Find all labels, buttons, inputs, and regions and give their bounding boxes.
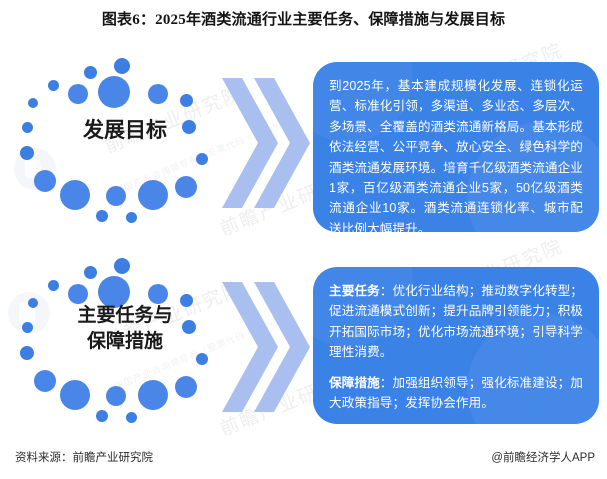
- node-label-tasks: 主要任务与 保障措施: [20, 303, 230, 354]
- double-chevron-right-icon: [222, 276, 310, 418]
- ring-dot: [106, 386, 126, 406]
- ring-dot-large: [138, 180, 168, 210]
- ring-dot: [96, 210, 108, 222]
- page-title: 图表6：2025年酒类流通行业主要任务、保障措施与发展目标: [0, 8, 607, 29]
- ring-dot: [28, 98, 38, 108]
- paragraph-lead: 保障措施: [329, 376, 380, 390]
- ring-dot: [148, 284, 168, 304]
- paragraph-lead: 主要任务: [329, 284, 380, 298]
- ring-dot: [96, 410, 108, 422]
- node-label-line: 发展目标: [20, 116, 230, 144]
- panel-paragraph: 到2025年，基本建成规模化发展、连锁化运营、标准化引领，多渠道、多业态、多层次…: [329, 76, 583, 232]
- ring-dot: [34, 170, 56, 192]
- attribution-note: @前瞻经济学人APP: [491, 449, 595, 465]
- panel-paragraph: 主要任务：优化行业结构；推动数字化转型；促进流通模式创新；提升品牌引领能力；积极…: [329, 281, 583, 363]
- ring-dot: [175, 176, 197, 198]
- ring-dot: [126, 412, 137, 423]
- paragraph-text: 到2025年，基本建成规模化发展、连锁化运营、标准化引领，多渠道、多业态、多层次…: [329, 79, 583, 232]
- ring-dot: [148, 84, 168, 104]
- ring-dot: [48, 280, 59, 291]
- ring-dot-large: [138, 380, 168, 410]
- ring-dot: [175, 376, 197, 398]
- goal-panel-body: 到2025年，基本建成规模化发展、连锁化运营、标准化引领，多渠道、多业态、多层次…: [313, 62, 599, 232]
- ring-dot: [114, 58, 130, 74]
- infographic-canvas: 图表6：2025年酒类流通行业主要任务、保障措施与发展目标 前瞻产业研究院 中国…: [0, 0, 607, 479]
- ring-dot: [180, 94, 193, 107]
- ring-dot: [84, 66, 97, 79]
- ring-dot: [84, 266, 97, 279]
- ring-dot: [196, 153, 208, 165]
- source-note: 资料来源：前瞻产业研究院: [15, 449, 153, 465]
- node-label-goal: 发展目标: [20, 116, 230, 144]
- ring-dot-large: [60, 380, 90, 410]
- ring-dot: [34, 370, 56, 392]
- node-label-line: 保障措施: [20, 329, 230, 355]
- ring-dot-large: [98, 76, 130, 108]
- tasks-panel: 主要任务：优化行业结构；推动数字化转型；促进流通模式创新；提升品牌引领能力；积极…: [313, 267, 599, 424]
- ring-dot: [126, 212, 137, 223]
- ring-dot-large: [60, 180, 90, 210]
- ring-dot: [48, 80, 59, 91]
- ring-dot: [196, 353, 208, 365]
- ring-dot: [20, 146, 34, 160]
- panel-paragraph: 保障措施：加强组织领导；强化标准建设；加大政策指导；发挥协会作用。: [329, 373, 583, 414]
- ring-dot: [106, 186, 126, 206]
- goal-panel: 到2025年，基本建成规模化发展、连锁化运营、标准化引领，多渠道、多业态、多层次…: [313, 62, 599, 232]
- ring-dot: [114, 258, 130, 274]
- ring-dot: [68, 84, 88, 104]
- node-label-line: 主要任务与: [20, 303, 230, 329]
- double-chevron-right-icon: [222, 72, 310, 214]
- ring-dot: [68, 284, 88, 304]
- tasks-panel-body: 主要任务：优化行业结构；推动数字化转型；促进流通模式创新；提升品牌引领能力；积极…: [313, 267, 599, 424]
